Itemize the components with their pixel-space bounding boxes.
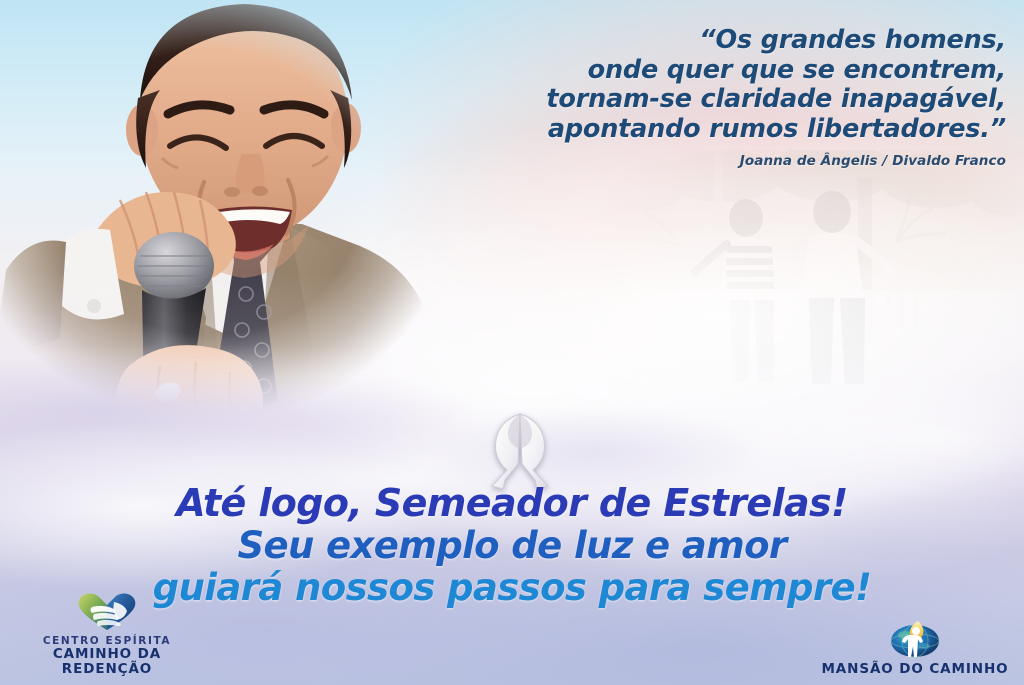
quote-line-4: apontando rumos libertadores.” [386,115,1006,145]
white-mourning-ribbon-icon [484,408,556,490]
quote-attribution: Joanna de Ângelis / Divaldo Franco [386,153,1006,169]
headline-line-1: Até logo, Semeador de Estrelas! [0,484,1024,522]
quote-block: “Os grandes homens, onde quer que se enc… [386,26,1006,169]
hands-forming-heart-icon [74,590,140,632]
headline-line-2: Seu exemplo de luz e amor [0,527,1024,564]
logo-mansao-do-caminho: MANSÃO DO CAMINHO [820,615,1010,677]
globe-with-figure-and-flame-icon [888,615,942,659]
headline-block: Até logo, Semeador de Estrelas! Seu exem… [0,484,1024,606]
quote-line-2: onde quer que se encontrem, [386,56,1006,86]
logo-left-line-2: CAMINHO DA REDENÇÃO [12,647,202,677]
quote-line-1: “Os grandes homens, [386,26,1006,56]
logo-right-name: MANSÃO DO CAMINHO [820,662,1010,677]
logo-centro-espirita: CENTRO ESPÍRITA CAMINHO DA REDENÇÃO [12,590,202,677]
memorial-poster: “Os grandes homens, onde quer que se enc… [0,0,1024,685]
quote-line-3: tornam-se claridade inapagável, [386,85,1006,115]
